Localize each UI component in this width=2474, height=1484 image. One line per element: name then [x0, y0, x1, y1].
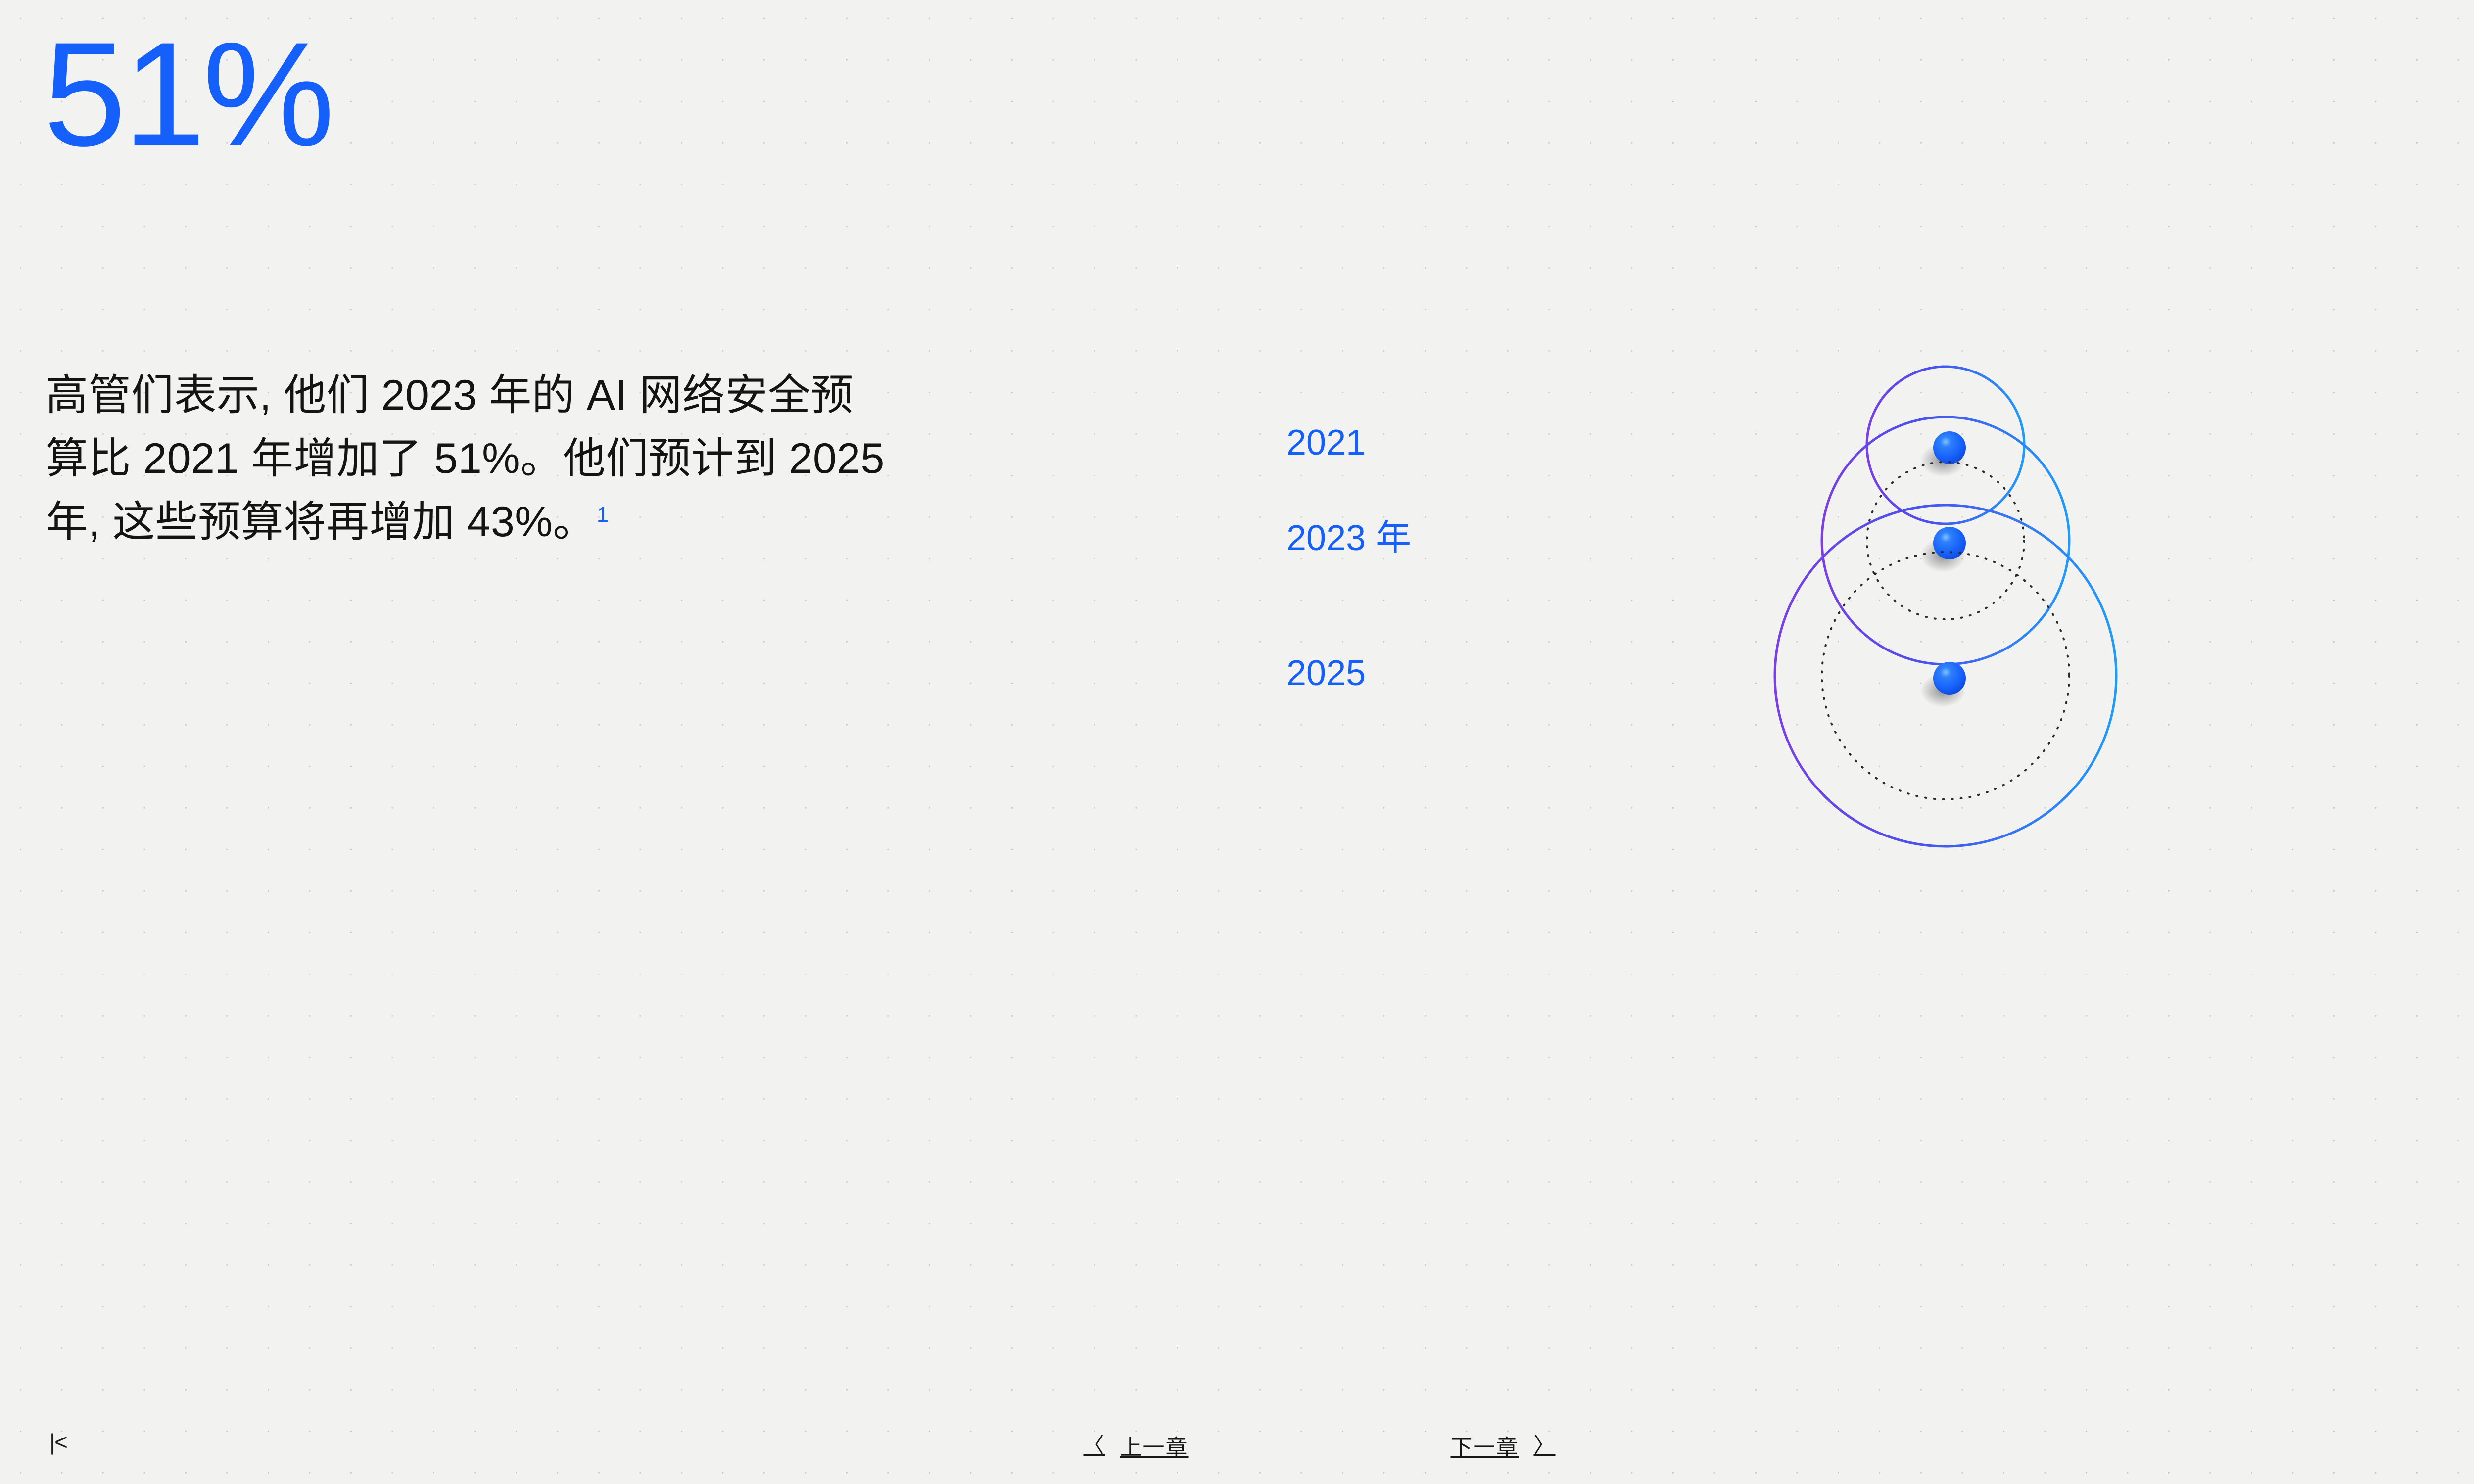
bubble-label-2025: 2025: [1286, 653, 1366, 693]
footnote-marker: 1: [597, 503, 609, 527]
page-title-stat: 51%: [44, 20, 332, 168]
budget-bubble-chart: 2021 2023 年 2025: [1286, 307, 2326, 1370]
next-chapter-label: 下一章: [1451, 1430, 1519, 1461]
chevron-right-icon: 〉: [1534, 1435, 1556, 1456]
chapter-navigation: 〈 上一章 下一章 〉: [0, 1430, 2474, 1461]
body-paragraph-text: 高管们表示, 他们 2023 年的 AI 网络安全预算比 2021 年增加了 5…: [46, 371, 885, 546]
chevron-left-icon: 〈: [1083, 1435, 1105, 1456]
bubble-sphere-2021: [1933, 431, 1966, 464]
bubble-sphere-2023: [1933, 527, 1966, 559]
bubble-label-2023: 2023 年: [1286, 518, 1411, 558]
prev-chapter-button[interactable]: 〈 上一章: [1083, 1430, 1188, 1461]
prev-chapter-label: 上一章: [1120, 1430, 1189, 1461]
skip-to-start-icon[interactable]: |<: [49, 1431, 67, 1453]
next-chapter-button[interactable]: 下一章 〉: [1451, 1430, 1556, 1461]
slide-page: 51% 高管们表示, 他们 2023 年的 AI 网络安全预算比 2021 年增…: [0, 0, 2474, 1484]
footer-bar: |< 〈 上一章 下一章 〉 8: [0, 1405, 2474, 1484]
bubble-label-2021: 2021: [1286, 423, 1366, 463]
body-paragraph: 高管们表示, 他们 2023 年的 AI 网络安全预算比 2021 年增加了 5…: [46, 364, 887, 554]
bubble-group-2021[interactable]: 2021: [1286, 367, 2024, 524]
bubble-sphere-2025: [1933, 662, 1966, 695]
